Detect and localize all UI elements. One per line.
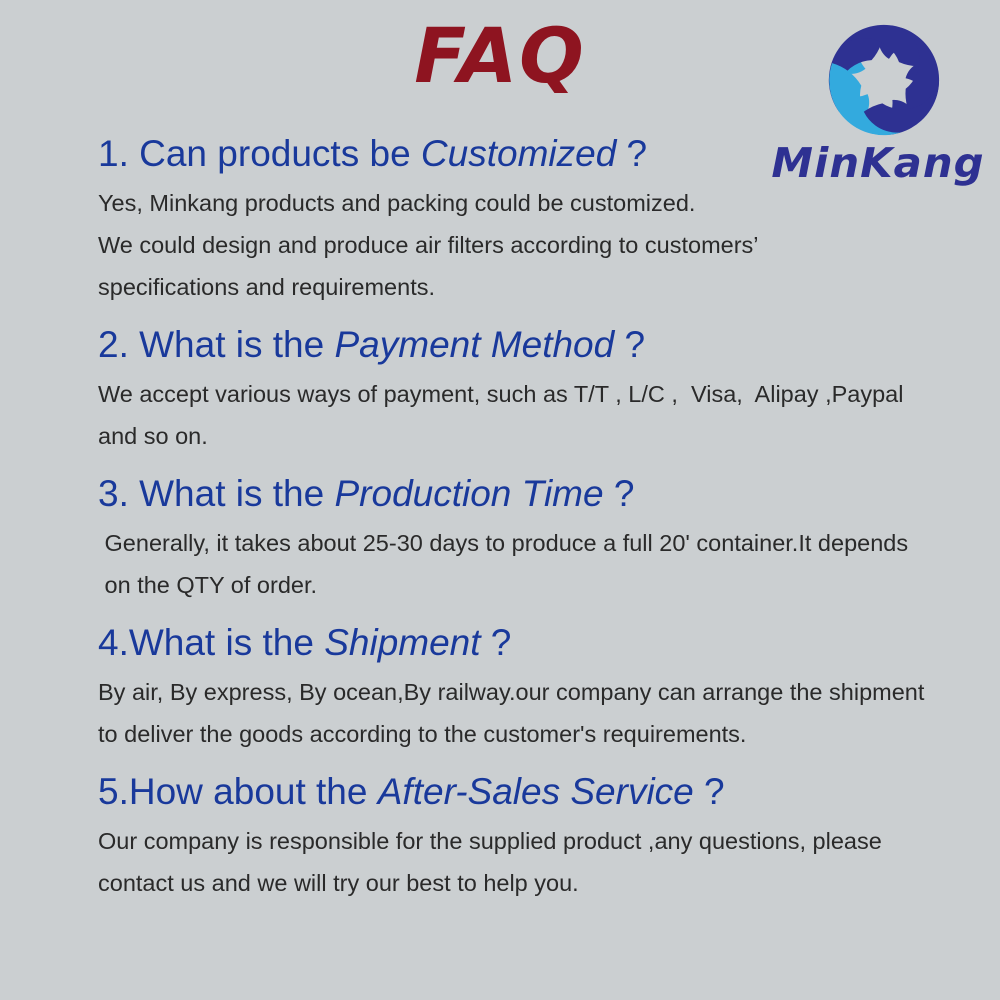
faq-answer-line: Yes, Minkang products and packing could … — [98, 183, 978, 225]
faq-answer-line: By air, By express, By ocean,By railway.… — [98, 672, 978, 714]
faq-question-number: 2. — [98, 324, 129, 365]
faq-question-tail: ? — [614, 324, 645, 365]
faq-list: 1. Can products be Customized ? Yes, Min… — [98, 130, 978, 907]
faq-question: 1. Can products be Customized ? — [98, 130, 978, 177]
faq-question: 4.What is the Shipment ? — [98, 619, 978, 666]
faq-question-lead: What is the — [129, 473, 335, 514]
faq-question-number: 3. — [98, 473, 129, 514]
faq-question-tail: ? — [616, 133, 647, 174]
faq-question-keyword: Customized — [421, 133, 616, 174]
faq-question: 5.How about the After-Sales Service ? — [98, 768, 978, 815]
faq-item: 4.What is the Shipment ? By air, By expr… — [98, 619, 978, 756]
faq-question-lead: Can products be — [129, 133, 421, 174]
faq-answer-line: to deliver the goods according to the cu… — [98, 714, 978, 756]
faq-item: 5.How about the After-Sales Service ? Ou… — [98, 768, 978, 905]
faq-answer-line: specifications and requirements. — [98, 267, 978, 309]
faq-question-keyword: Shipment — [324, 622, 480, 663]
faq-question-number: 5. — [98, 771, 129, 812]
faq-question-lead: What is the — [129, 324, 335, 365]
faq-question-keyword: After-Sales Service — [378, 771, 694, 812]
faq-answer-line: Generally, it takes about 25-30 days to … — [98, 523, 978, 565]
faq-answer-line: We could design and produce air filters … — [98, 225, 978, 267]
faq-answer-line: We accept various ways of payment, such … — [98, 374, 978, 416]
faq-answer: Our company is responsible for the suppl… — [98, 821, 978, 905]
faq-answer-line: contact us and we will try our best to h… — [98, 863, 978, 905]
faq-answer: Generally, it takes about 25-30 days to … — [98, 523, 978, 607]
faq-question-keyword: Production Time — [335, 473, 604, 514]
faq-item: 3. What is the Production Time ? General… — [98, 470, 978, 607]
faq-answer-line: Our company is responsible for the suppl… — [98, 821, 978, 863]
swirl-pinwheel-logo-icon — [820, 18, 948, 142]
faq-answer: We accept various ways of payment, such … — [98, 374, 978, 458]
faq-item: 2. What is the Payment Method ? We accep… — [98, 321, 978, 458]
faq-question: 2. What is the Payment Method ? — [98, 321, 978, 368]
faq-question-lead: How about the — [129, 771, 378, 812]
faq-answer-line: on the QTY of order. — [98, 565, 978, 607]
faq-question-tail: ? — [604, 473, 635, 514]
faq-question-tail: ? — [481, 622, 512, 663]
faq-question: 3. What is the Production Time ? — [98, 470, 978, 517]
faq-question-number: 4. — [98, 622, 129, 663]
faq-question-lead: What is the — [129, 622, 324, 663]
faq-item: 1. Can products be Customized ? Yes, Min… — [98, 130, 978, 309]
faq-answer-line: and so on. — [98, 416, 978, 458]
faq-answer: By air, By express, By ocean,By railway.… — [98, 672, 978, 756]
faq-question-number: 1. — [98, 133, 129, 174]
faq-question-tail: ? — [694, 771, 725, 812]
faq-answer: Yes, Minkang products and packing could … — [98, 183, 978, 308]
faq-question-keyword: Payment Method — [335, 324, 615, 365]
